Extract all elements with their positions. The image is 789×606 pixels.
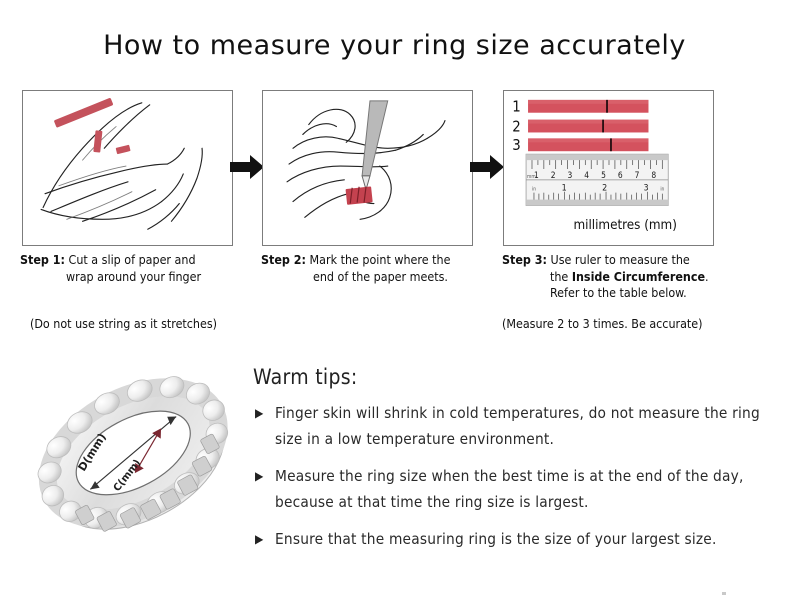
strip-label-3: 3 xyxy=(512,137,520,154)
step-2-line-1: Mark the point where the xyxy=(310,252,451,267)
step-3-label: Step 3: xyxy=(502,252,547,267)
arrow-step1-to-step2-icon xyxy=(230,152,264,182)
step-1-line-1: Cut a slip of paper and xyxy=(69,252,196,267)
ruler-graphic: 123 456 78 mm 123 in in xyxy=(526,154,668,205)
tip-text: Finger skin will shrink in cold temperat… xyxy=(275,404,760,448)
step-2-line-2: end of the paper meets. xyxy=(261,269,493,286)
step-3-illustration-panel: 1 2 3 xyxy=(503,90,714,246)
svg-text:2: 2 xyxy=(551,170,556,180)
inside-circumference-emphasis: Inside Circumference xyxy=(572,269,705,284)
step-3-line-2-post: . xyxy=(705,269,709,284)
svg-text:6: 6 xyxy=(618,170,623,180)
step-1-line-2: wrap around your finger xyxy=(20,269,250,286)
step-2-illustration-panel xyxy=(262,90,473,246)
tip-text: Measure the ring size when the best time… xyxy=(275,467,744,511)
svg-text:in: in xyxy=(660,187,664,193)
svg-text:2: 2 xyxy=(602,184,607,194)
list-item: ▶ Ensure that the measuring ring is the … xyxy=(253,526,773,552)
marker-pen-shape xyxy=(362,101,388,190)
step-1-caption: Step 1: Cut a slip of paper and wrap aro… xyxy=(20,252,250,285)
ring-diagram: D(mm) C(mm) xyxy=(22,352,252,568)
step-3-line-2: the Inside Circumference. xyxy=(502,269,762,286)
step-3-line-3: Refer to the table below. xyxy=(502,285,762,302)
svg-text:in: in xyxy=(532,187,536,193)
page-speck xyxy=(722,592,726,595)
triangle-bullet-icon: ▶ xyxy=(255,463,264,489)
warm-tips-heading: Warm tips: xyxy=(253,365,358,389)
step-1-note: (Do not use string as it stretches) xyxy=(30,316,217,331)
step-1-label: Step 1: xyxy=(20,252,65,267)
step-1-illustration-panel xyxy=(22,90,233,246)
strip-label-2: 2 xyxy=(512,118,520,135)
measured-paper-strips xyxy=(528,100,648,151)
step-2-caption: Step 2: Mark the point where the end of … xyxy=(261,252,493,285)
step-3-note: (Measure 2 to 3 times. Be accurate) xyxy=(502,316,703,331)
triangle-bullet-icon: ▶ xyxy=(255,400,264,426)
svg-text:8: 8 xyxy=(651,170,656,180)
svg-text:4: 4 xyxy=(584,170,589,180)
triangle-bullet-icon: ▶ xyxy=(255,526,264,552)
paper-strip-shape xyxy=(54,98,131,155)
svg-text:7: 7 xyxy=(635,170,640,180)
svg-text:mm: mm xyxy=(527,174,536,180)
svg-text:3: 3 xyxy=(644,184,649,194)
list-item: ▶ Measure the ring size when the best ti… xyxy=(253,463,773,515)
warm-tips-list: ▶ Finger skin will shrink in cold temper… xyxy=(253,400,773,563)
arrow-step2-to-step3-icon xyxy=(470,152,504,182)
step-2-label: Step 2: xyxy=(261,252,306,267)
step-3-caption: Step 3: Use ruler to measure the the Ins… xyxy=(502,252,762,302)
ring-size-guide-page: How to measure your ring size accurately xyxy=(0,0,789,606)
svg-text:5: 5 xyxy=(601,170,606,180)
step-3-line-2-pre: the xyxy=(550,269,572,284)
step-3-line-1: Use ruler to measure the xyxy=(551,252,690,267)
strip-label-1: 1 xyxy=(512,99,520,116)
ruler-caption: millimetres (mm) xyxy=(573,218,676,233)
list-item: ▶ Finger skin will shrink in cold temper… xyxy=(253,400,773,452)
svg-text:1: 1 xyxy=(562,184,567,194)
page-title: How to measure your ring size accurately xyxy=(0,30,789,61)
paper-strip-shape xyxy=(346,186,373,204)
svg-text:3: 3 xyxy=(568,170,573,180)
tip-text: Ensure that the measuring ring is the si… xyxy=(275,530,717,548)
